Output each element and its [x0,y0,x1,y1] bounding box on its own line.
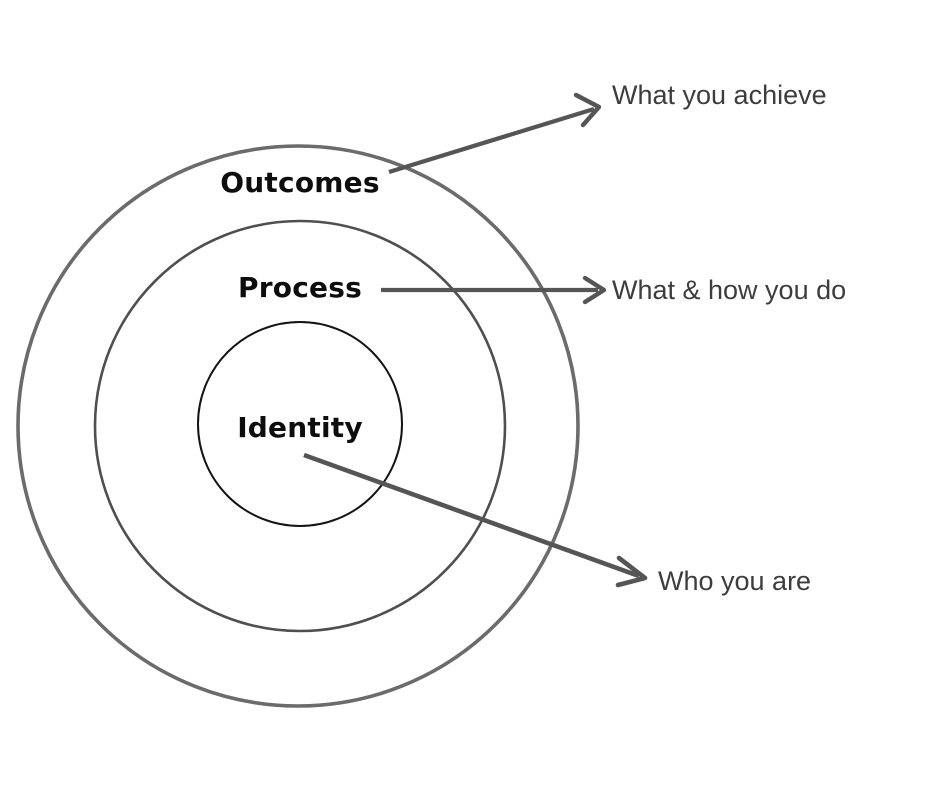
callout-labels-group: What you achieve What & how you do Who y… [612,80,846,596]
ring-label-process: Process [238,271,362,304]
arrow-process [381,278,604,302]
concentric-circles-diagram: Outcomes Process Identity What you achie… [0,0,940,788]
callout-label-who-you-are: Who you are [658,566,811,596]
ring-labels-group: Outcomes Process Identity [220,166,379,444]
diagram-canvas-root: Outcomes Process Identity What you achie… [0,0,940,788]
arrow-outcomes [389,95,599,172]
callout-label-what-you-achieve: What you achieve [612,80,827,110]
ring-label-identity: Identity [237,411,363,444]
arrow-identity [304,455,645,585]
arrow-identity-shaft [304,455,639,576]
callout-label-what-and-how-you-do: What & how you do [612,275,846,305]
arrow-outcomes-shaft [389,109,594,172]
ring-label-outcomes: Outcomes [220,166,379,199]
